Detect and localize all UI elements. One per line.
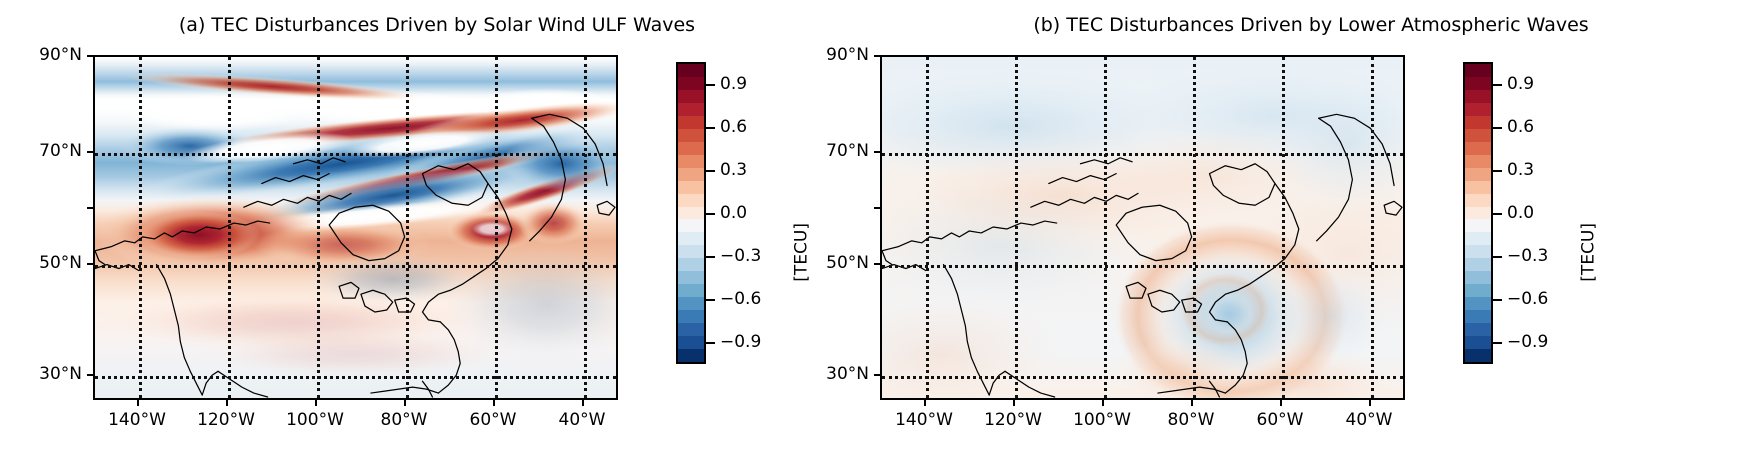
colorbar-a [676,62,706,364]
ytick-mark-a-50n [87,263,93,265]
xtick-mark-b-40w [1369,400,1371,406]
colorbar-tick-label: −0.9 [1507,332,1548,352]
colorbar-tick-label: 0.0 [720,203,747,223]
colorbar-swatch [1465,284,1491,297]
ytick-label-a-30n: 30°N [0,364,82,384]
colorbar-tick-label: −0.6 [720,289,761,309]
colorbar-swatch [678,271,704,284]
colorbar-tick-label: −0.3 [720,246,761,266]
ytick-mark-b-60n [874,207,880,209]
xtick-mark-b-60w [1280,400,1282,406]
colorbar-tick-label: −0.3 [1507,246,1548,266]
colorbar-swatch [1465,271,1491,284]
colorbar-tick-mark [1493,342,1502,344]
colorbar-swatch [678,284,704,297]
colorbar-tick-label: 0.9 [1507,74,1534,94]
colorbar-swatch [1465,219,1491,232]
colorbar-swatch [1465,129,1491,142]
colorbar-tick-label: 0.0 [1507,203,1534,223]
colorbar-tick-mark [1493,256,1502,258]
colorbar-swatch [678,90,704,103]
ytick-mark-a-30n [87,374,93,376]
colorbar-swatch [1465,232,1491,245]
panel-b-title: (b) TEC Disturbances Driven by Lower Atm… [874,14,1748,36]
colorbar-swatch [1465,258,1491,271]
colorbar-swatch [678,129,704,142]
colorbar-b-gradient [1463,62,1493,364]
colorbar-tick-mark [1493,127,1502,129]
colorbar-swatch [678,258,704,271]
colorbar-swatch [678,194,704,207]
colorbar-tick-label: −0.9 [720,332,761,352]
colorbar-swatch [678,77,704,90]
ytick-mark-a-60n [87,207,93,209]
colorbar-swatch [1465,116,1491,129]
colorbar-tick-label: 0.6 [720,117,747,137]
colorbar-tick-label: −0.6 [1507,289,1548,309]
colorbar-swatch [1465,349,1491,362]
colorbar-tick-mark [706,170,715,172]
colorbar-tick-label: 0.9 [720,74,747,94]
ytick-mark-b-70n [874,151,880,153]
colorbar-swatch [678,232,704,245]
ytick-label-a-90n: 90°N [0,45,82,65]
map-a-canvas [95,57,616,398]
colorbar-tick-mark [1493,170,1502,172]
colorbar-swatch [678,207,704,220]
colorbar-swatch [678,168,704,181]
xtick-label-b-140w: 140°W [895,410,953,430]
colorbar-swatch [678,349,704,362]
xtick-label-a-80w: 80°W [381,410,428,430]
colorbar-swatch [1465,194,1491,207]
xtick-label-b-100w: 100°W [1073,410,1131,430]
ytick-label-b-90n: 90°N [787,45,869,65]
colorbar-tick-mark [706,127,715,129]
colorbar-swatch [678,323,704,336]
xtick-label-a-100w: 100°W [286,410,344,430]
xtick-mark-a-100w [315,400,317,406]
colorbar-swatch [678,103,704,116]
colorbar-tick-label: 0.3 [720,160,747,180]
ytick-mark-b-90n [874,55,880,57]
panel-b: (b) TEC Disturbances Driven by Lower Atm… [874,0,1748,460]
colorbar-swatch [1465,77,1491,90]
colorbar-swatch [1465,155,1491,168]
xtick-mark-a-140w [137,400,139,406]
colorbar-tick-mark [706,213,715,215]
colorbar-swatch [678,310,704,323]
colorbar-swatch [1465,142,1491,155]
colorbar-tick-mark [1493,84,1502,86]
colorbar-swatch [678,155,704,168]
colorbar-swatch [1465,103,1491,116]
figure-root: (a) TEC Disturbances Driven by Solar Win… [0,0,1748,460]
colorbar-swatch [1465,90,1491,103]
xtick-label-b-60w: 60°W [1257,410,1304,430]
colorbar-swatch [678,219,704,232]
colorbar-swatch [1465,64,1491,77]
colorbar-tick-mark [706,342,715,344]
colorbar-a-gradient [676,62,706,364]
colorbar-swatch [678,116,704,129]
xtick-mark-a-40w [582,400,584,406]
colorbar-tick-mark [706,256,715,258]
xtick-mark-a-60w [493,400,495,406]
xtick-mark-b-140w [924,400,926,406]
colorbar-swatch [1465,336,1491,349]
xtick-mark-a-80w [404,400,406,406]
ytick-mark-a-90n [87,55,93,57]
colorbar-swatch [678,245,704,258]
colorbar-swatch [1465,168,1491,181]
ytick-mark-b-50n [874,263,880,265]
colorbar-swatch [1465,310,1491,323]
colorbar-swatch [1465,207,1491,220]
colorbar-tick-mark [1493,299,1502,301]
colorbar-swatch [678,142,704,155]
xtick-label-b-80w: 80°W [1168,410,1215,430]
colorbar-segments [678,64,704,362]
colorbar-tick-label: 0.6 [1507,117,1534,137]
colorbar-tick-label: 0.3 [1507,160,1534,180]
colorbar-swatch [1465,297,1491,310]
xtick-mark-b-100w [1102,400,1104,406]
colorbar-swatch [1465,245,1491,258]
ytick-label-a-50n: 50°N [0,253,82,273]
panel-a: (a) TEC Disturbances Driven by Solar Win… [0,0,874,460]
xtick-label-b-40w: 40°W [1346,410,1393,430]
xtick-label-a-140w: 140°W [108,410,166,430]
map-b-canvas [882,57,1403,398]
map-b [880,55,1405,400]
colorbar-swatch [678,297,704,310]
ytick-mark-a-70n [87,151,93,153]
colorbar-swatch [678,64,704,77]
colorbar-swatch [1465,323,1491,336]
ytick-label-b-30n: 30°N [787,364,869,384]
colorbar-swatch [678,181,704,194]
map-a [93,55,618,400]
xtick-mark-a-120w [226,400,228,406]
colorbar-tick-mark [706,84,715,86]
xtick-label-b-120w: 120°W [984,410,1042,430]
xtick-label-a-120w: 120°W [197,410,255,430]
colorbar-tick-mark [706,299,715,301]
ytick-mark-b-30n [874,374,880,376]
colorbar-swatch [1465,181,1491,194]
ytick-label-b-50n: 50°N [787,253,869,273]
ytick-label-a-70n: 70°N [0,141,82,161]
panel-a-title: (a) TEC Disturbances Driven by Solar Win… [0,14,874,36]
xtick-label-a-40w: 40°W [559,410,606,430]
colorbar-segments [1465,64,1491,362]
xtick-mark-b-120w [1013,400,1015,406]
ytick-label-b-70n: 70°N [787,141,869,161]
colorbar-tick-mark [1493,213,1502,215]
xtick-mark-b-80w [1191,400,1193,406]
colorbar-b [1463,62,1493,364]
xtick-label-a-60w: 60°W [470,410,517,430]
colorbar-swatch [678,336,704,349]
colorbar-b-label: [TECU] [1578,223,1598,282]
